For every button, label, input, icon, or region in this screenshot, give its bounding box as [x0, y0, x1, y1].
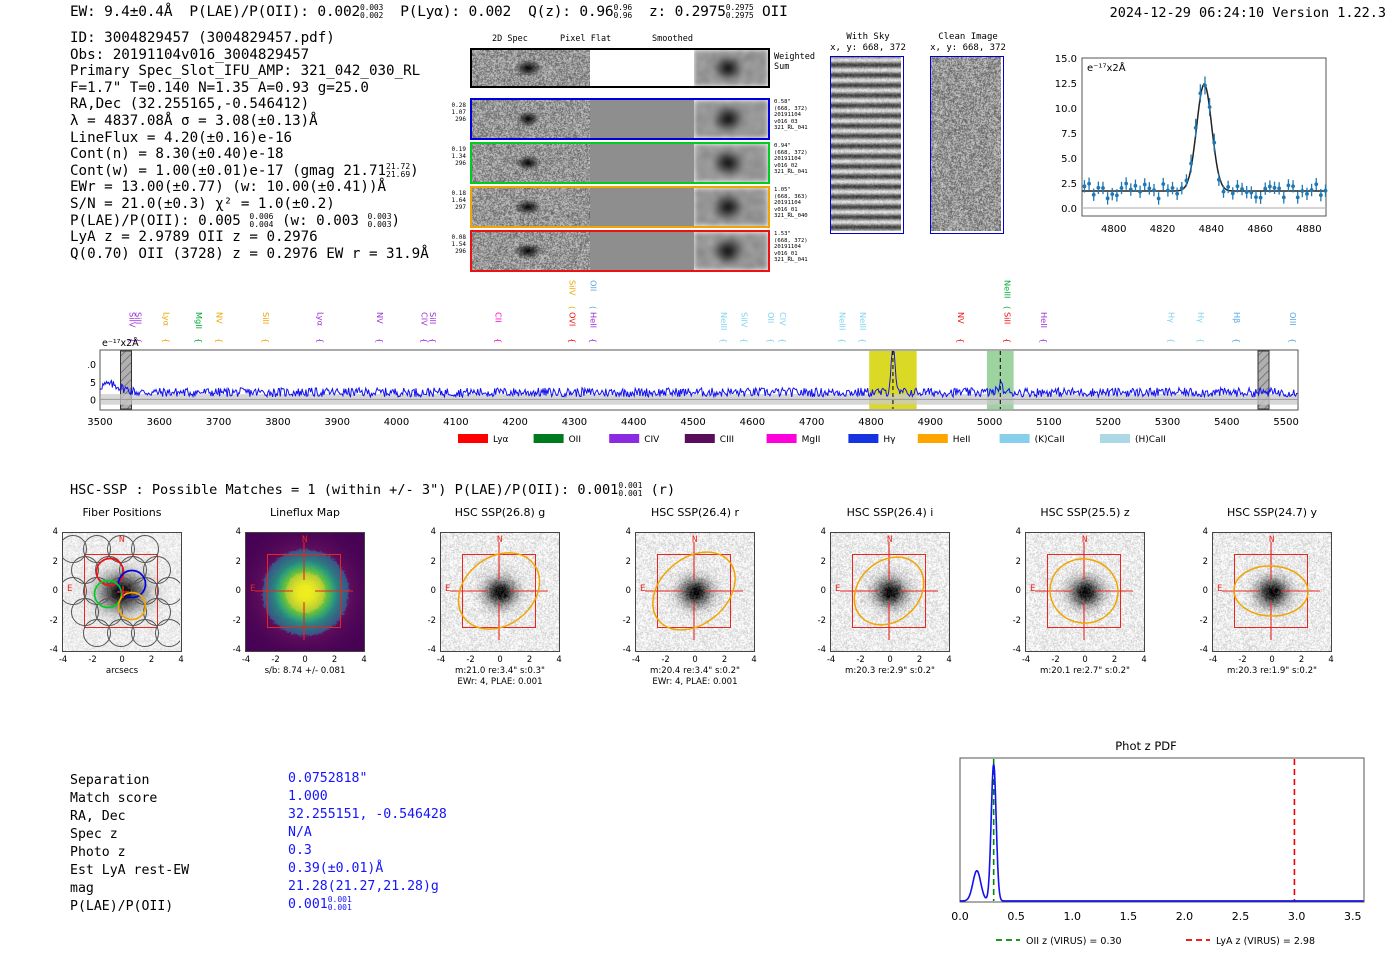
- info-line-2: Primary Spec_Slot_IFU_AMP: 321_042_030_R…: [70, 63, 429, 80]
- cutout-4-caption-1: m:20.3 re:2.9" s:0.2": [790, 666, 990, 677]
- spec2d-row-2-meta-3: v016_01: [774, 207, 808, 214]
- weighted-sum-strip: [470, 48, 770, 88]
- spec2d-title-0: 2D Spec: [492, 34, 528, 44]
- emission-ytick-3: 7.5: [1061, 129, 1077, 140]
- spectrum-line-bracket-26: {: [1196, 338, 1206, 343]
- spectrum-line-label-Hγ-26: Hγ: [1196, 312, 1206, 323]
- header-qz-label: Q(z):: [528, 4, 571, 20]
- cutout-2-north-label: N: [497, 535, 502, 545]
- cutout-4-xtick-3: 2: [912, 654, 928, 664]
- spec2d-row-2-meta: 1.05"(668, 363)20191104v016_01321_RL_040: [774, 187, 808, 220]
- sky-cutouts: With Skyx, y: 668, 372Clean Imagex, y: 6…: [820, 32, 1020, 262]
- spectrum-line-label-SiII-1: SiII: [133, 312, 143, 324]
- spectrum-line-bracket-15: {: [719, 338, 729, 343]
- match-row-4-key: Photo z: [70, 844, 126, 862]
- cutout-4-xtick-1: -2: [853, 654, 869, 664]
- emission-xtick-1: 4820: [1150, 224, 1175, 235]
- cutout-0-xtick-4: 4: [173, 654, 189, 664]
- photz-legend-label-0: OII z (VIRUS) = 0.30: [1026, 936, 1122, 947]
- spec2d-row-3-stats: 0.081.54296: [430, 234, 466, 256]
- photz-xtick-3: 1.5: [1120, 910, 1138, 923]
- spectrum-line-bracket-23: {: [1002, 338, 1012, 343]
- cutout-3-xtick-0: -4: [628, 654, 644, 664]
- sky-panel-0-image: [830, 56, 904, 234]
- spec2d-row-3-meta-3: v016_01: [774, 251, 808, 258]
- cutout-6-ytick-2: 0: [1194, 585, 1208, 595]
- spectrum-xtick-5: 4000: [384, 417, 409, 428]
- spec2d-row-3-meta-2: 20191104: [774, 244, 808, 251]
- cutout-3-caption-1: m:20.4 re:3.4" s:0.2": [595, 666, 795, 677]
- info-line-12: LyA z = 2.9789 OII z = 0.2976: [70, 229, 429, 246]
- spectrum-line-bracket-14: (: [588, 306, 598, 309]
- spec2d-row-1-meta-0: 0.94": [774, 143, 808, 150]
- spectrum-line-label-NeIII-19: NeIII: [837, 312, 847, 330]
- spec2d-row-0-meta-1: (668, 372): [774, 106, 808, 113]
- hsc-summary-range: 0.0010.001: [618, 482, 642, 498]
- cutout-4-ytick-0: -4: [812, 644, 826, 654]
- spectrum-legend-label-HeII: HeII: [953, 435, 971, 445]
- spectrum-line-label-NV-7: NV: [375, 312, 385, 324]
- cutout-6-xtick-4: 4: [1323, 654, 1339, 664]
- spectrum-line-label-Hβ-27: Hβ: [1232, 312, 1242, 323]
- sky-panel-1-title: Clean Imagex, y: 668, 372: [918, 32, 1018, 53]
- spec2d-row-1-stat-0: 0.19: [430, 146, 466, 153]
- info-line-5: λ = 4837.08Å σ = 3.08(±0.13)Å: [70, 113, 429, 130]
- spectrum-legend-swatch-HeII: [918, 434, 948, 443]
- cutout-4-xtick-4: 4: [941, 654, 957, 664]
- spectrum-legend-label-Hγ: Hγ: [883, 435, 896, 445]
- cutout-5-xtick-4: 4: [1136, 654, 1152, 664]
- cutout-0-xtick-0: -4: [55, 654, 71, 664]
- spectrum-legend-swatch-(K)CaII: [1000, 434, 1030, 443]
- sky-panel-0-title: With Skyx, y: 668, 372: [818, 32, 918, 53]
- cutout-1-ytick-4: 4: [227, 526, 241, 536]
- spec2d-row-3-stat-1: 1.54: [430, 241, 466, 248]
- spec2d-row-2-meta-4: 321_RL_040: [774, 213, 808, 220]
- cutout-0-caption-1: arcsecs: [22, 666, 222, 677]
- cutout-3-xtick-3: 2: [717, 654, 733, 664]
- cutout-2-xtick-1: -2: [463, 654, 479, 664]
- cutout-6-east-label: E: [1217, 584, 1222, 594]
- cutout-2-ytick-1: -2: [422, 615, 436, 625]
- spectrum-line-label-OVI-11: OVI: [568, 312, 578, 326]
- spectrum-xtick-14: 4900: [918, 417, 943, 428]
- info-line-7: Cont(n) = 8.30(±0.40)e-18: [70, 146, 429, 163]
- cutout-3-caption-2: EWr: 4, PLAE: 0.001: [595, 677, 795, 688]
- cutout-5-north-label: N: [1082, 535, 1087, 545]
- spectrum-line-bracket-6: {: [316, 338, 326, 343]
- spec2d-row-0-meta-3: v016_03: [774, 119, 808, 126]
- cutout-5-ytick-0: -4: [1007, 644, 1021, 654]
- info-plae-range: 0.0060.004: [249, 213, 273, 229]
- spectrum-line-label-SiII-23: SiII: [1002, 312, 1012, 324]
- cutout-4-ytick-3: 2: [812, 556, 826, 566]
- spec2d-row-1-meta-2: 20191104: [774, 156, 808, 163]
- cutout-2-xtick-2: 0: [492, 654, 508, 664]
- cutout-3-aperture-box: [657, 554, 731, 628]
- cutout-5-xtick-2: 0: [1077, 654, 1093, 664]
- cutout-3-ytick-3: 2: [617, 556, 631, 566]
- spectrum-xtick-6: 4100: [443, 417, 468, 428]
- sky-panel-0-name: With Sky: [818, 32, 918, 43]
- spectrum-line-bracket-17: {: [766, 338, 776, 343]
- cutout-1-ytick-3: 2: [227, 556, 241, 566]
- spectrum-legend-label-OII: OII: [569, 435, 581, 445]
- spectrum-line-bracket-25: {: [1167, 338, 1177, 343]
- cutout-1-xtick-0: -4: [238, 654, 254, 664]
- spectrum-line-label-OIII-28: OIII: [1288, 312, 1298, 326]
- spectrum-legend-label-(K)CaII: (K)CaII: [1035, 435, 1065, 445]
- spec2d-row-2-stat-0: 0.18: [430, 190, 466, 197]
- match-row-2-key: RA, Dec: [70, 808, 126, 826]
- spec2d-row-3-meta-0: 1.53": [774, 231, 808, 238]
- cutout-5-title: HSC SSP(25.5) z: [995, 506, 1175, 519]
- spectrum-line-label-HeII-13: HeII: [588, 312, 598, 328]
- spectrum-line-bracket-24: {: [1039, 338, 1049, 343]
- cutout-0-ytick-2: 0: [44, 585, 58, 595]
- timestamp-version: 2024-12-29 06:24:10 Version 1.22.3: [1110, 5, 1386, 21]
- cutout-0-ytick-1: -2: [44, 615, 58, 625]
- hsc-summary-suffix: (r): [651, 482, 676, 498]
- match-row-3-key: Spec z: [70, 826, 118, 844]
- phot-z-pdf-plot: Phot z PDF0.00.51.01.52.02.53.03.5OII z …: [936, 736, 1396, 948]
- cutout-4-title: HSC SSP(26.4) i: [800, 506, 980, 519]
- spectrum-xtick-4: 3900: [325, 417, 350, 428]
- header-z-range: 0.29750.2975: [726, 4, 754, 20]
- cutout-5-xtick-3: 2: [1107, 654, 1123, 664]
- spec2d-row-3-meta-4: 321_RL_041: [774, 257, 808, 264]
- spec2d-row-0: [470, 98, 770, 140]
- cutout-3-xtick-4: 4: [746, 654, 762, 664]
- match-row-0-key: Separation: [70, 772, 149, 790]
- spec2d-row-0-meta: 0.58"(668, 372)20191104v016_03321_RL_041: [774, 99, 808, 132]
- spectrum-legend-swatch-CIII: [685, 434, 715, 443]
- cutout-6-north-label: N: [1269, 535, 1274, 545]
- spec2d-row-2-stat-1: 1.64: [430, 197, 466, 204]
- spectrum-line-bracket-2: {: [161, 338, 171, 343]
- spectrum-line-label-MgII-3: MgII: [194, 312, 204, 329]
- cutout-6-xtick-0: -4: [1205, 654, 1221, 664]
- spectrum-legend-label-MgII: MgII: [802, 435, 821, 445]
- cutout-5-ytick-3: 2: [1007, 556, 1021, 566]
- spectrum-line-bracket-13: {: [588, 338, 598, 343]
- info-plae-w-range: 0.0030.003: [367, 213, 391, 229]
- spectrum-legend-label-CIV: CIV: [644, 435, 660, 445]
- spectrum-legend-swatch-Lyα: [458, 434, 488, 443]
- spec2d-row-0-meta-0: 0.58": [774, 99, 808, 106]
- spectrum-line-label-NeIII-20: NeIII: [858, 312, 868, 330]
- cutout-4-north-label: N: [887, 535, 892, 545]
- spec2d-row-0-meta-4: 321_RL_041: [774, 125, 808, 132]
- spectrum-ytick-2: 10: [88, 360, 96, 371]
- cutout-1-east-label: E: [250, 584, 255, 594]
- emission-unit-label: e⁻¹⁷x2Å: [1087, 61, 1126, 74]
- spectrum-xtick-8: 4300: [562, 417, 587, 428]
- cutout-3-xtick-1: -2: [658, 654, 674, 664]
- cutout-4-ytick-1: -2: [812, 615, 826, 625]
- spectrum-line-bracket-19: {: [837, 338, 847, 343]
- emission-line-plot: 0.02.55.07.510.012.515.04800482048404860…: [1040, 52, 1340, 270]
- cutout-1-ytick-2: 0: [227, 585, 241, 595]
- hsc-ssp-summary: HSC-SSP : Possible Matches = 1 (within +…: [70, 482, 675, 498]
- match-row-3-value: N/A: [288, 824, 312, 842]
- spectrum-line-bracket-28: {: [1288, 338, 1298, 343]
- spectrum-line-label-NV-21: NV: [956, 312, 966, 324]
- fiber-highlight-3: [119, 593, 146, 620]
- spectrum-line-label-CII-10: CII: [493, 312, 503, 323]
- sky-panel-1-name: Clean Image: [918, 32, 1018, 43]
- header-plae-value: 0.002: [317, 4, 360, 20]
- gmag-range: 21.7221.69: [386, 163, 410, 179]
- info-line-10: S/N = 21.0(±0.3) χ² = 1.0(±0.2): [70, 196, 429, 213]
- info-line-4: RA,Dec (32.255165,-0.546412): [70, 96, 429, 113]
- spectrum-line-label-SiIV-16: SiIV: [740, 312, 750, 328]
- cutout-0-ytick-3: 2: [44, 556, 58, 566]
- spectrum-legend-swatch-(H)CaII: [1100, 434, 1130, 443]
- spectrum-legend-swatch-Hγ: [848, 434, 878, 443]
- emission-xtick-3: 4860: [1247, 224, 1272, 235]
- info-line-8: Cont(w) = 1.00(±0.01)e-17 (gmag 21.7121.…: [70, 163, 429, 180]
- photz-xtick-4: 2.0: [1176, 910, 1194, 923]
- cutout-5-aperture-box: [1047, 554, 1121, 628]
- spectrum-line-bracket-8: {: [419, 338, 429, 343]
- cutout-4-aperture-box: [852, 554, 926, 628]
- spec2d-row-0-stat-1: 1.07: [430, 109, 466, 116]
- spectrum-line-bracket-27: {: [1232, 338, 1242, 343]
- cutout-6-ytick-4: 4: [1194, 526, 1208, 536]
- emission-xtick-4: 4880: [1296, 224, 1321, 235]
- spec2d-row-3-meta: 1.53"(668, 372)20191104v016_01321_RL_041: [774, 231, 808, 264]
- weighted-sum-label: WeightedSum: [774, 52, 815, 72]
- spectrum-legend-swatch-OII: [534, 434, 564, 443]
- header-ew: EW: 9.4±0.4Å: [70, 4, 172, 20]
- spec2d-row-0-stat-2: 296: [430, 116, 466, 123]
- spectrum-line-label-Lyα-6: Lyα: [316, 312, 326, 326]
- spec2d-row-1-stats: 0.191.34296: [430, 146, 466, 168]
- match-row-6-value: 21.28(21.27,21.28)g: [288, 878, 439, 896]
- spec2d-row-1-meta-1: (668, 372): [774, 150, 808, 157]
- cutout-0-xtick-3: 2: [144, 654, 160, 664]
- spectrum-line-bracket-4: {: [215, 338, 225, 343]
- header-qz-range: 0.960.96: [613, 4, 631, 20]
- spec2d-row-2-meta-1: (668, 363): [774, 194, 808, 201]
- info-line-11: P(LAE)/P(OII): 0.005 0.0060.004 (w: 0.00…: [70, 213, 429, 230]
- spec2d-title-1: Pixel Flat: [560, 34, 611, 44]
- source-info-block: ID: 3004829457 (3004829457.pdf)Obs: 2019…: [70, 30, 429, 262]
- cutout-4-xtick-0: -4: [823, 654, 839, 664]
- cutout-5-caption-1: m:20.1 re:2.7" s:0.2": [985, 666, 1185, 677]
- cutout-1-xtick-3: 2: [327, 654, 343, 664]
- cutout-5-ytick-4: 4: [1007, 526, 1021, 536]
- cutout-2-ytick-4: 4: [422, 526, 436, 536]
- spectrum-xtick-15: 5000: [977, 417, 1002, 428]
- cutout-3-ytick-0: -4: [617, 644, 631, 654]
- photz-xtick-1: 0.5: [1007, 910, 1025, 923]
- spectrum-legend-label-Lyα: Lyα: [493, 435, 509, 445]
- cutout-5-xtick-0: -4: [1018, 654, 1034, 664]
- spectrum-line-bracket-22: (: [1002, 306, 1012, 309]
- spec2d-row-1: [470, 142, 770, 184]
- cutout-1-caption: s/b: 8.74 +/- 0.081: [205, 666, 405, 677]
- photz-xtick-7: 3.5: [1344, 910, 1362, 923]
- spectrum-line-label-HeII-24: HeII: [1039, 312, 1049, 328]
- cutout-2-xtick-3: 2: [522, 654, 538, 664]
- cutout-1-aperture-box: [267, 554, 341, 628]
- spectrum-line-label-Hγ-25: Hγ: [1167, 312, 1177, 323]
- spectrum-xtick-19: 5400: [1214, 417, 1239, 428]
- header-z-value: 0.2975: [675, 4, 726, 20]
- header-qz-value: 0.96: [579, 4, 613, 20]
- spectrum-xtick-11: 4600: [740, 417, 765, 428]
- info-line-13: Q(0.70) OII (3728) z = 0.2976 EW r = 31.…: [70, 246, 429, 263]
- cutout-0-title: Fiber Positions: [32, 506, 212, 519]
- spectrum-line-label-CIV-8: CIV: [419, 312, 429, 326]
- spectrum-ytick-1: 5: [90, 378, 96, 389]
- cutout-6-xtick-3: 2: [1294, 654, 1310, 664]
- spectrum-line-bracket-10: {: [493, 338, 503, 343]
- cutout-1-caption-1: s/b: 8.74 +/- 0.081: [205, 666, 405, 677]
- spec2d-row-3-stat-2: 296: [430, 248, 466, 255]
- spectrum-xtick-13: 4800: [858, 417, 883, 428]
- spec2d-row-1-meta: 0.94"(668, 372)20191104v016_02321_RL_041: [774, 143, 808, 176]
- spectrum-line-label-NV-4: NV: [215, 312, 225, 324]
- cutout-1-xtick-2: 0: [297, 654, 313, 664]
- cutout-6-aperture-box: [1234, 554, 1308, 628]
- spec2d-row-2: [470, 186, 770, 228]
- match-row-6-key: mag: [70, 880, 94, 898]
- spec2d-row-3-meta-1: (668, 372): [774, 238, 808, 245]
- spectrum-line-bracket-7: {: [375, 338, 385, 343]
- cutout-6-caption: m:20.3 re:1.9" s:0.2": [1172, 666, 1372, 677]
- cutout-2-ytick-2: 0: [422, 585, 436, 595]
- match-plae-range: 0.0010.001: [328, 896, 352, 912]
- spectrum-line-bracket-12: (: [568, 306, 578, 309]
- spectrum-xtick-0: 3500: [88, 417, 113, 428]
- cutout-4-east-label: E: [835, 584, 840, 594]
- cutout-3-caption: m:20.4 re:3.4" s:0.2"EWr: 4, PLAE: 0.001: [595, 666, 795, 688]
- spec2d-row-2-meta-0: 1.05": [774, 187, 808, 194]
- header-plae-label: P(LAE)/P(OII):: [189, 4, 308, 20]
- cutout-6-ytick-3: 2: [1194, 556, 1208, 566]
- photz-xtick-6: 3.0: [1288, 910, 1306, 923]
- emission-xtick-2: 4840: [1199, 224, 1224, 235]
- cutout-3-xtick-2: 0: [687, 654, 703, 664]
- spectrum-legend-label-(H)CaII: (H)CaII: [1135, 435, 1166, 445]
- cutout-5-xtick-1: -2: [1048, 654, 1064, 664]
- cutout-1-ytick-0: -4: [227, 644, 241, 654]
- header-z-label: z:: [649, 4, 666, 20]
- spectrum-xtick-10: 4500: [680, 417, 705, 428]
- header-z-type: OII: [762, 4, 788, 20]
- spectrum-ytick-0: 0: [90, 395, 96, 406]
- full-spectrum-plot: SiIV{SiII{Lyα{MgII{NV{SiII{Lyα{NV{CIV{Si…: [88, 278, 1310, 446]
- spec2d-title-2: Smoothed: [652, 34, 693, 44]
- cutout-4-ytick-4: 4: [812, 526, 826, 536]
- cutout-0-caption: arcsecs: [22, 666, 222, 677]
- cutout-6-caption-1: m:20.3 re:1.9" s:0.2": [1172, 666, 1372, 677]
- photz-xtick-2: 1.0: [1063, 910, 1081, 923]
- sky-panel-1-image: [930, 56, 1004, 234]
- spectrum-line-label-NeIII-22: NeIII: [1002, 280, 1012, 298]
- spec2d-row-0-stat-0: 0.28: [430, 102, 466, 109]
- emission-ytick-0: 0.0: [1061, 204, 1077, 215]
- spec2d-row-2-meta-2: 20191104: [774, 200, 808, 207]
- spectrum-line-bracket-16: {: [740, 338, 750, 343]
- spec2d-row-2-stats: 0.181.64297: [430, 190, 466, 212]
- weighted-sum-line2: Sum: [774, 62, 815, 72]
- cutout-2-ytick-0: -4: [422, 644, 436, 654]
- spectrum-line-label-Lyα-2: Lyα: [161, 312, 171, 326]
- cutout-2-ytick-3: 2: [422, 556, 436, 566]
- spec2d-montage: 2D SpecPixel FlatSmoothedWeightedSum0.28…: [432, 34, 792, 264]
- spec2d-row-0-meta-2: 20191104: [774, 112, 808, 119]
- cutout-1-xtick-1: -2: [268, 654, 284, 664]
- match-row-4-value: 0.3: [288, 842, 312, 860]
- spec2d-row-1-meta-3: v016_02: [774, 163, 808, 170]
- spectrum-line-label-NeIII-15: NeIII: [719, 312, 729, 330]
- emission-ytick-4: 10.0: [1055, 104, 1077, 115]
- sky-panel-1-coords: x, y: 668, 372: [918, 43, 1018, 54]
- fiber-circles: [62, 532, 180, 650]
- spectrum-line-label-SiII-5: SiII: [261, 312, 271, 324]
- cutout-2-xtick-0: -4: [433, 654, 449, 664]
- match-row-0-value: 0.0752818": [288, 770, 367, 788]
- spec2d-row-0-stats: 0.281.07296: [430, 102, 466, 124]
- cutout-6-title: HSC SSP(24.7) y: [1182, 506, 1362, 519]
- match-row-7-key: P(LAE)/P(OII): [70, 898, 173, 916]
- spectrum-xtick-16: 5100: [1036, 417, 1061, 428]
- cutout-6-ytick-1: -2: [1194, 615, 1208, 625]
- spectrum-line-label-OII-14: OII: [588, 280, 598, 291]
- header-plae-range: 0.0030.002: [360, 4, 383, 20]
- header-plya-label: P(Lyα):: [400, 4, 460, 20]
- cutout-0-ytick-0: -4: [44, 644, 58, 654]
- weighted-sum-line1: Weighted: [774, 52, 815, 62]
- cutout-2-caption: m:21.0 re:3.4" s:0.3"EWr: 4, PLAE: 0.001: [400, 666, 600, 688]
- spectrum-line-label-CIV-18: CIV: [778, 312, 788, 326]
- cutout-row: Fiber PositionsNE-4-2024-4-2024arcsecsLi…: [0, 506, 1400, 736]
- cutout-2-xtick-4: 4: [551, 654, 567, 664]
- spec2d-row-1-meta-4: 321_RL_041: [774, 169, 808, 176]
- summary-header: EW: 9.4±0.4Å P(LAE)/P(OII): 0.0020.0030.…: [70, 4, 788, 20]
- cutout-3-north-label: N: [692, 535, 697, 545]
- info-line-1: Obs: 20191104v016_3004829457: [70, 47, 429, 64]
- spec2d-row-2-stat-2: 297: [430, 204, 466, 211]
- photz-xtick-5: 2.5: [1232, 910, 1250, 923]
- emission-ytick-5: 12.5: [1055, 79, 1077, 90]
- spectrum-line-bracket-18: {: [778, 338, 788, 343]
- cutout-1-north-label: N: [302, 535, 307, 545]
- cutout-3-east-label: E: [640, 584, 645, 594]
- cutout-6-xtick-1: -2: [1235, 654, 1251, 664]
- spectrum-line-bracket-3: {: [194, 338, 204, 343]
- cutout-6-ytick-0: -4: [1194, 644, 1208, 654]
- spectrum-line-bracket-21: {: [956, 338, 966, 343]
- cutout-3-title: HSC SSP(26.4) r: [605, 506, 785, 519]
- match-row-5-key: Est LyA rest-EW: [70, 862, 189, 880]
- spectrum-xtick-20: 5500: [1273, 417, 1298, 428]
- cutout-5-ytick-2: 0: [1007, 585, 1021, 595]
- cutout-1-title: Lineflux Map: [215, 506, 395, 519]
- spectrum-xtick-18: 5300: [1155, 417, 1180, 428]
- spectrum-xtick-7: 4200: [502, 417, 527, 428]
- spectrum-xtick-3: 3800: [265, 417, 290, 428]
- emission-xtick-0: 4800: [1101, 224, 1126, 235]
- cutout-2-aperture-box: [462, 554, 536, 628]
- cutout-3-ytick-2: 0: [617, 585, 631, 595]
- spectrum-legend-swatch-CIV: [609, 434, 639, 443]
- photz-title: Phot z PDF: [1115, 739, 1177, 753]
